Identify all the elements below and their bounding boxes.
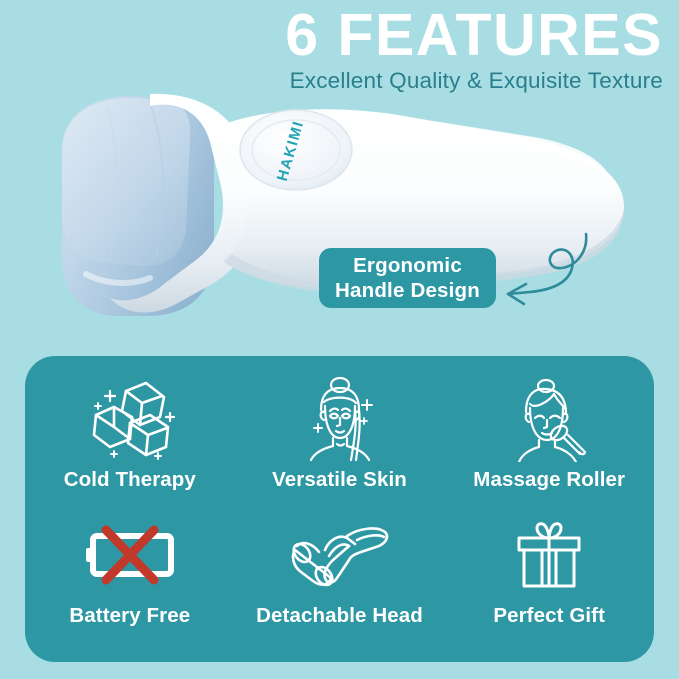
feature-label: Detachable Head bbox=[256, 604, 423, 628]
features-row-1: Cold Therapy bbox=[25, 376, 654, 512]
gift-box-icon bbox=[509, 512, 589, 598]
feature-perfect-gift: Perfect Gift bbox=[444, 512, 654, 648]
woman-face-sparkle-icon bbox=[297, 376, 383, 462]
feature-label: Massage Roller bbox=[473, 468, 625, 492]
ice-cubes-icon bbox=[84, 376, 176, 462]
feature-label: Perfect Gift bbox=[493, 604, 605, 628]
battery-crossed-icon bbox=[82, 512, 178, 598]
detachable-roller-icon bbox=[285, 512, 395, 598]
features-row-2: Battery Free bbox=[25, 512, 654, 648]
page-title: 6 FEATURES bbox=[0, 4, 663, 66]
roller-head-highlight bbox=[62, 98, 190, 266]
features-panel: Cold Therapy bbox=[25, 356, 654, 662]
feature-detachable-head: Detachable Head bbox=[235, 512, 445, 648]
callout-badge-ergonomic-handle: Ergonomic Handle Design bbox=[319, 248, 496, 308]
infographic-canvas: 6 FEATURES Excellent Quality & Exquisite… bbox=[0, 0, 679, 679]
feature-cold-therapy: Cold Therapy bbox=[25, 376, 235, 512]
curly-arrow-icon bbox=[496, 226, 590, 310]
feature-battery-free: Battery Free bbox=[25, 512, 235, 648]
feature-massage-roller: Massage Roller bbox=[444, 376, 654, 512]
feature-label: Cold Therapy bbox=[64, 468, 196, 492]
feature-versatile-skin: Versatile Skin bbox=[235, 376, 445, 512]
callout-line-2: Handle Design bbox=[335, 278, 480, 303]
face-roller-icon bbox=[506, 376, 592, 462]
callout-line-1: Ergonomic bbox=[353, 253, 462, 278]
feature-label: Versatile Skin bbox=[272, 468, 407, 492]
feature-label: Battery Free bbox=[69, 604, 190, 628]
